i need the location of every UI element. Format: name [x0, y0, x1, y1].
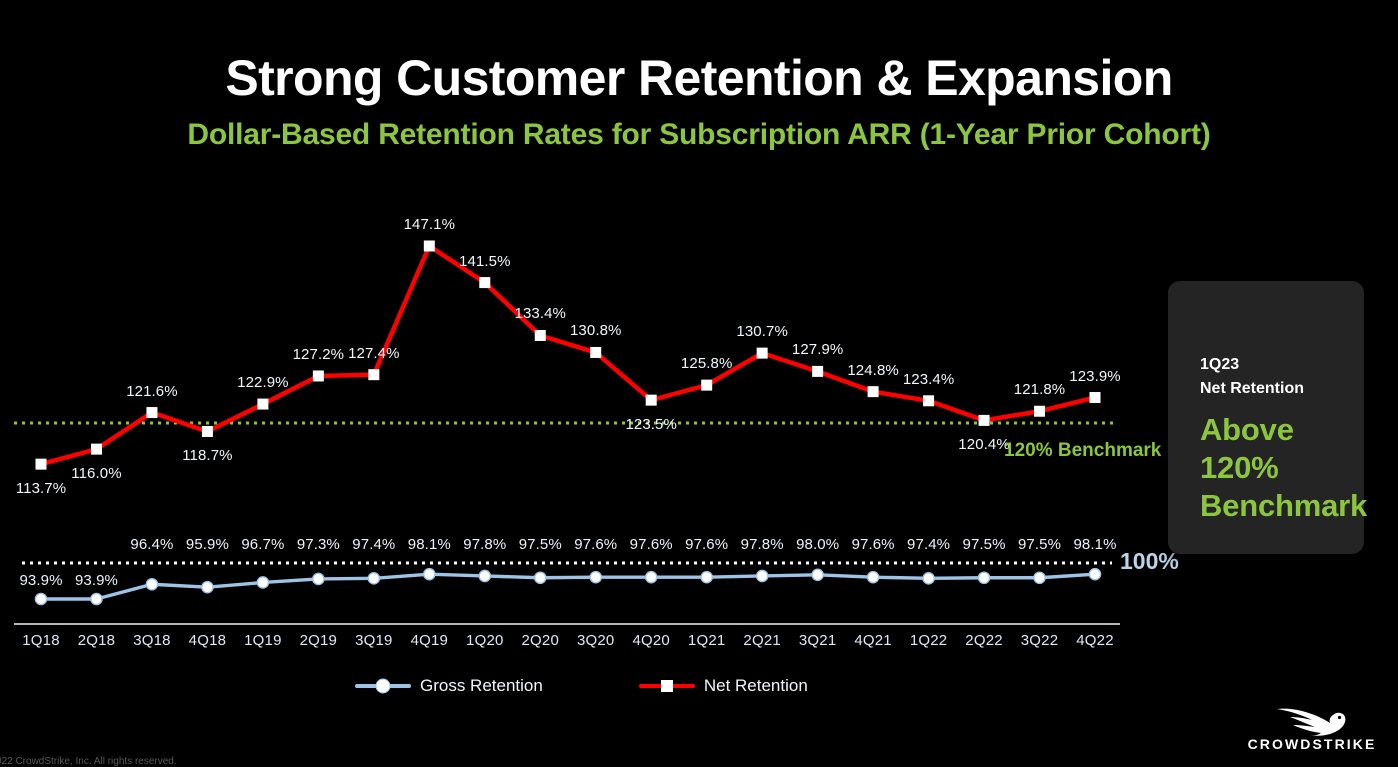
chart-legend: Gross Retention Net Retention	[355, 676, 808, 696]
net-retention-label-2q21: 130.7%	[736, 323, 787, 340]
x-axis-tick-4q18: 4Q18	[189, 632, 227, 649]
callout-headline-line1: Above 120%	[1200, 411, 1360, 487]
net-retention-label-3q18: 121.6%	[126, 383, 177, 400]
x-axis-tick-1q19: 1Q19	[244, 632, 282, 649]
crowdstrike-logo: CROWDSTRIKE	[1242, 706, 1382, 754]
net-retention-label-1q18: 113.7%	[16, 480, 66, 497]
callout-card: 1Q23 Net Retention Above 120% Benchmark	[1168, 281, 1364, 554]
net-retention-line-icon	[639, 679, 695, 693]
net-retention-label-1q19: 122.9%	[237, 374, 288, 391]
net-retention-label-4q19: 147.1%	[404, 216, 455, 233]
legend-label-gross-retention: Gross Retention	[420, 676, 543, 696]
net-retention-label-4q21: 124.8%	[847, 362, 898, 379]
x-axis-tick-4q21: 4Q21	[854, 632, 892, 649]
x-axis-tick-1q18: 1Q18	[22, 632, 60, 649]
gross-retention-label-1q18: 93.9%	[19, 572, 62, 589]
x-axis-tick-1q20: 1Q20	[466, 632, 504, 649]
gross-retention-label-2q18: 93.9%	[75, 572, 118, 589]
gross-retention-label-1q20: 97.8%	[463, 536, 506, 553]
callout-headline: Above 120% Benchmark	[1200, 411, 1360, 524]
x-axis-tick-4q22: 4Q22	[1076, 632, 1114, 649]
gross-retention-label-4q20: 97.6%	[630, 536, 673, 553]
x-axis-tick-4q19: 4Q19	[411, 632, 449, 649]
net-retention-label-3q19: 127.4%	[348, 345, 399, 362]
x-axis-tick-1q22: 1Q22	[910, 632, 948, 649]
x-axis-tick-3q22: 3Q22	[1021, 632, 1059, 649]
callout-kicker: 1Q23 Net Retention	[1200, 353, 1350, 401]
gross-retention-label-2q20: 97.5%	[519, 536, 562, 553]
gross-retention-label-2q21: 97.8%	[741, 536, 784, 553]
x-axis-tick-4q20: 4Q20	[632, 632, 670, 649]
net-retention-label-2q18: 116.0%	[71, 465, 121, 482]
x-axis-tick-2q18: 2Q18	[78, 632, 116, 649]
chart-plot-area	[0, 0, 1180, 700]
gross-retention-label-3q21: 98.0%	[796, 536, 839, 553]
gross-retention-label-3q19: 97.4%	[352, 536, 395, 553]
x-axis-tick-3q19: 3Q19	[355, 632, 393, 649]
callout-kicker-line1: 1Q23	[1200, 353, 1350, 377]
legend-label-net-retention: Net Retention	[704, 676, 808, 696]
x-axis-tick-1q21: 1Q21	[688, 632, 726, 649]
net-retention-label-1q22: 123.4%	[903, 371, 954, 388]
net-retention-label-3q22: 121.8%	[1014, 381, 1065, 398]
net-retention-label-3q21: 127.9%	[792, 341, 843, 358]
x-axis-tick-2q21: 2Q21	[743, 632, 781, 649]
x-axis-tick-3q18: 3Q18	[133, 632, 171, 649]
net-retention-label-4q18: 118.7%	[182, 447, 232, 464]
x-axis-tick-2q22: 2Q22	[965, 632, 1003, 649]
legend-item-gross-retention[interactable]: Gross Retention	[355, 676, 543, 696]
net-retention-label-2q22: 120.4%	[958, 436, 1009, 453]
net-retention-label-2q19: 127.2%	[293, 346, 344, 363]
gross-retention-label-4q21: 97.6%	[852, 536, 895, 553]
gross-retention-label-4q19: 98.1%	[408, 536, 451, 553]
gross-retention-label-2q22: 97.5%	[963, 536, 1006, 553]
gross-retention-label-3q18: 96.4%	[130, 536, 173, 553]
gross-retention-label-3q20: 97.6%	[574, 536, 617, 553]
copyright-notice: 022 CrowdStrike, Inc. All rights reserve…	[0, 756, 177, 767]
x-axis-tick-3q21: 3Q21	[799, 632, 837, 649]
crowdstrike-wordmark: CROWDSTRIKE	[1242, 736, 1382, 752]
x-axis-line	[14, 623, 1120, 625]
net-retention-label-2q20: 133.4%	[515, 305, 566, 322]
gross-retention-label-1q19: 96.7%	[241, 536, 284, 553]
gross-retention-label-4q18: 95.9%	[186, 536, 229, 553]
x-axis-tick-2q20: 2Q20	[522, 632, 560, 649]
gross-retention-line-icon	[355, 679, 411, 693]
falcon-logo-icon	[1274, 705, 1350, 737]
gross-retention-label-1q22: 97.4%	[907, 536, 950, 553]
net-retention-label-1q21: 125.8%	[681, 355, 732, 372]
x-axis-tick-labels: 1Q182Q183Q184Q181Q192Q193Q194Q191Q202Q20…	[0, 632, 1140, 658]
benchmark-annotation: 120% Benchmark	[1004, 440, 1161, 462]
legend-item-net-retention[interactable]: Net Retention	[639, 676, 808, 696]
hundred-percent-annotation: 100%	[1120, 548, 1179, 575]
x-axis-tick-3q20: 3Q20	[577, 632, 615, 649]
net-retention-label-1q20: 141.5%	[459, 253, 510, 270]
gross-retention-label-1q21: 97.6%	[685, 536, 728, 553]
gross-retention-label-4q22: 98.1%	[1073, 536, 1116, 553]
callout-headline-line2: Benchmark	[1200, 487, 1360, 525]
gross-retention-label-3q22: 97.5%	[1018, 536, 1061, 553]
net-retention-label-3q20: 130.8%	[570, 322, 621, 339]
gross-retention-label-2q19: 97.3%	[297, 536, 340, 553]
slide-canvas: Strong Customer Retention & Expansion Do…	[0, 0, 1398, 765]
net-retention-label-4q22: 123.9%	[1069, 368, 1120, 385]
callout-kicker-line2: Net Retention	[1200, 377, 1350, 401]
net-retention-label-4q20: 123.5%	[625, 416, 676, 433]
x-axis-tick-2q19: 2Q19	[300, 632, 338, 649]
retention-chart: 1Q182Q183Q184Q181Q192Q193Q194Q191Q202Q20…	[0, 0, 1180, 700]
